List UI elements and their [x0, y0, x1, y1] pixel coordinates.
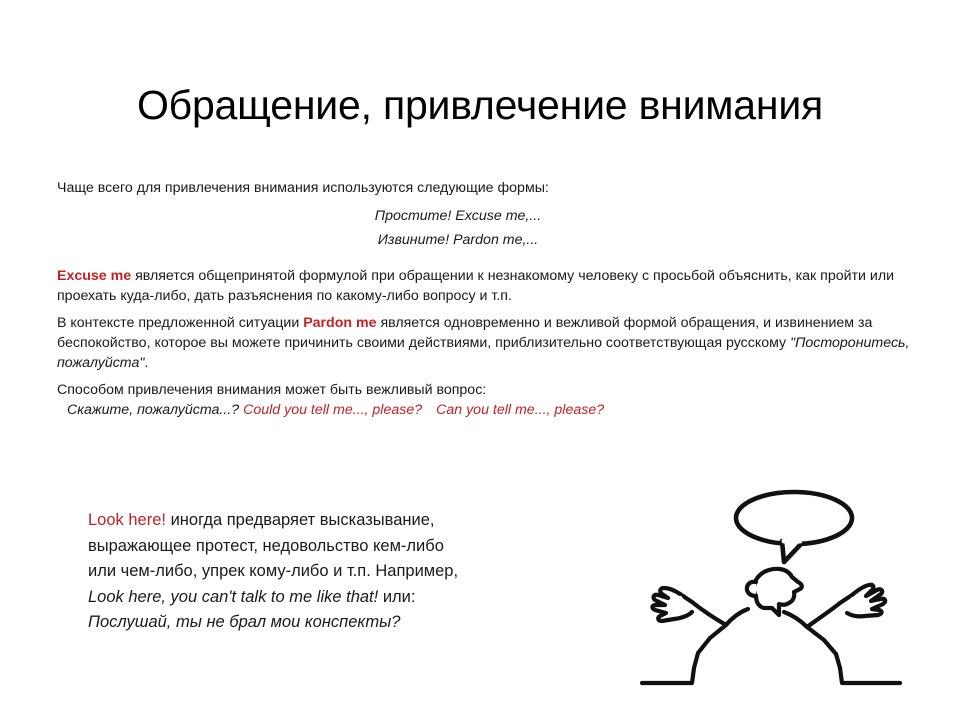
paragraph-pardon-me: В контексте предложенной ситуации Pardon… — [57, 313, 919, 373]
look-here-line-1: Look here! иногда предваряет высказывани… — [88, 508, 558, 534]
look-here-example-russian: Послушай, ты не брал мои конспекты? — [88, 610, 558, 636]
right-arm-hand-icon — [807, 585, 885, 627]
illustration-svg — [632, 478, 950, 696]
look-here-line-4: Look here, you can't talk to me like tha… — [88, 585, 558, 611]
torso-icon — [642, 609, 900, 683]
polite-question-lead: Способом привлечения внимания может быть… — [57, 380, 919, 400]
look-here-example-english: Look here, you can't talk to me like tha… — [88, 588, 378, 606]
head-icon — [747, 569, 802, 615]
polite-question-examples: Скажите, пожалуйста...? Could you tell m… — [57, 400, 919, 420]
example-line-2: Извините! Pardon me,... — [57, 230, 919, 250]
highlight-pardon-me: Pardon me — [303, 315, 376, 331]
intro-lead: Чаще всего для привлечения внимания испо… — [57, 178, 919, 198]
paragraph-pardon-me-after: . — [144, 355, 148, 371]
speech-bubble-icon — [736, 492, 852, 562]
page-title: Обращение, привлечение внимания — [0, 83, 960, 128]
polite-question-english-1: Could you tell me..., please? — [243, 402, 422, 418]
paragraph-excuse-me-text: является общепринятой формулой при обращ… — [57, 268, 894, 304]
polite-question-russian: Скажите, пожалуйста...? — [67, 402, 239, 418]
illustration-person-speech-bubble — [632, 478, 950, 696]
slide-body: Чаще всего для привлечения внимания испо… — [57, 178, 919, 420]
highlight-look-here: Look here! — [88, 511, 166, 529]
look-here-line-4-rest: или: — [378, 588, 415, 606]
paragraph-excuse-me: Excuse me является общепринятой формулой… — [57, 266, 919, 306]
polite-question-english-2: Can you tell me..., please? — [436, 402, 604, 418]
paragraph-pardon-me-before: В контексте предложенной ситуации — [57, 315, 303, 331]
highlight-excuse-me: Excuse me — [57, 268, 131, 284]
look-here-line-3: или чем-либо, упрек кому-либо и т.п. Нап… — [88, 559, 558, 585]
look-here-line-1-rest: иногда предваряет высказывание, — [166, 511, 434, 529]
slide-canvas: Обращение, привлечение внимания Чаще все… — [0, 0, 960, 720]
look-here-line-2: выражающее протест, недовольство кем-либ… — [88, 534, 558, 560]
look-here-block: Look here! иногда предваряет высказывани… — [88, 508, 558, 636]
example-line-1: Простите! Excuse me,... — [57, 206, 919, 226]
left-arm-hand-icon — [652, 588, 726, 625]
